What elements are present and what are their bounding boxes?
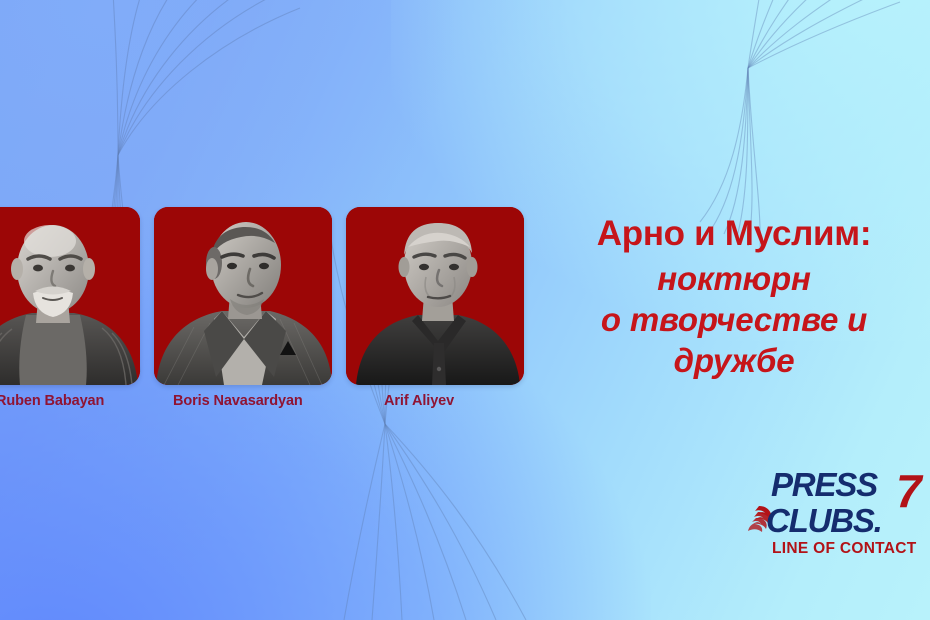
guest-portrait: [0, 207, 140, 385]
guest-portrait: [346, 207, 524, 385]
headline-line-3: о творчестве и: [534, 300, 930, 341]
guest-card: [0, 207, 140, 385]
logo-word-press: PRESS: [771, 466, 877, 504]
logo-tagline: LINE OF CONTACT: [772, 540, 917, 558]
guest-portrait: [154, 207, 332, 385]
headline-line-1: Арно и Муслим:: [534, 214, 930, 253]
pressclubs-logo[interactable]: PRESS CLUBS. 7 LINE OF CONTACT: [744, 466, 930, 566]
guest-card: [154, 207, 332, 385]
logo-numeral-seven: 7: [896, 468, 920, 514]
guest-card: [346, 207, 524, 385]
logo-word-clubs: CLUBS.: [766, 502, 882, 540]
guest-name: Arif Aliyev: [384, 393, 454, 409]
video-thumbnail-canvas: Ruben Babayan Boris Navasardyan Arif Ali…: [0, 0, 930, 620]
guest-name: Ruben Babayan: [0, 393, 104, 409]
guest-name: Boris Navasardyan: [173, 393, 303, 409]
guest-name-row: Ruben Babayan Boris Navasardyan Arif Ali…: [0, 393, 930, 413]
headline-line-4: дружбе: [534, 341, 930, 382]
headline-line-2: ноктюрн: [534, 259, 930, 300]
headline-title: Арно и Муслим: ноктюрн о творчестве и др…: [534, 214, 930, 382]
guest-photo-row: [0, 207, 524, 385]
